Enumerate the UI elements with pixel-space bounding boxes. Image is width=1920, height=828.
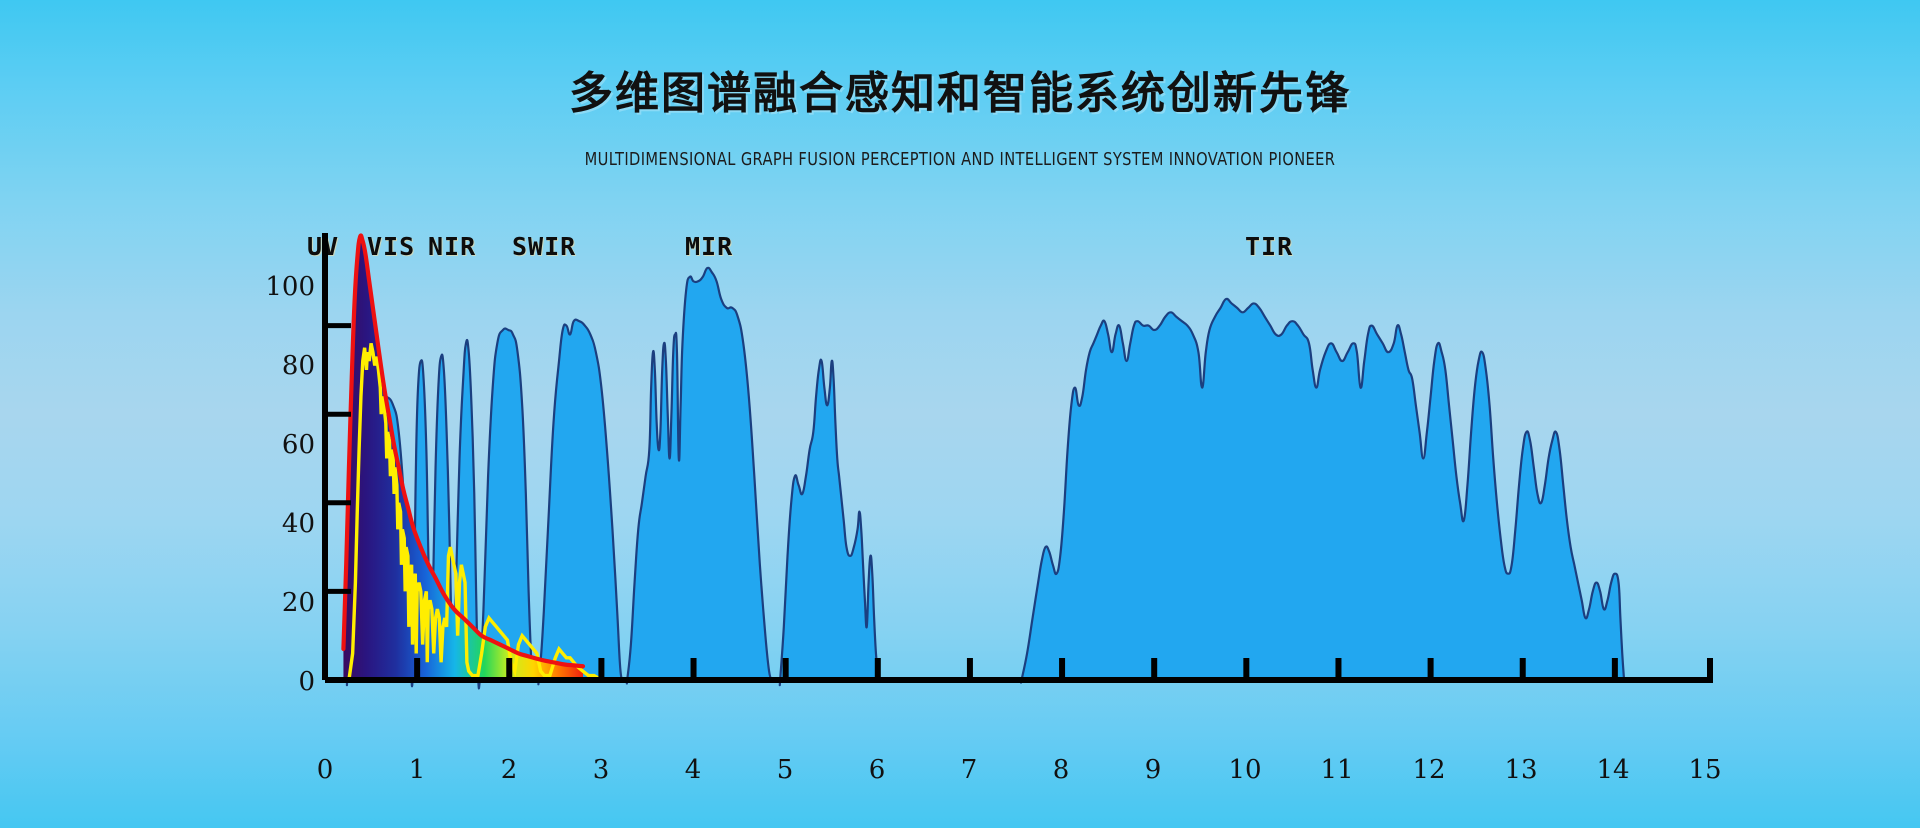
transmission-band: [538, 320, 621, 685]
poster-canvas: 多维图谱融合感知和智能系统创新先锋 MULTIDIMENSIONAL GRAPH…: [0, 0, 1920, 828]
spectrum-plot: [0, 0, 1920, 828]
transmission-band: [1021, 299, 1624, 683]
transmission-band: [780, 360, 880, 686]
transmission-band: [627, 268, 772, 684]
